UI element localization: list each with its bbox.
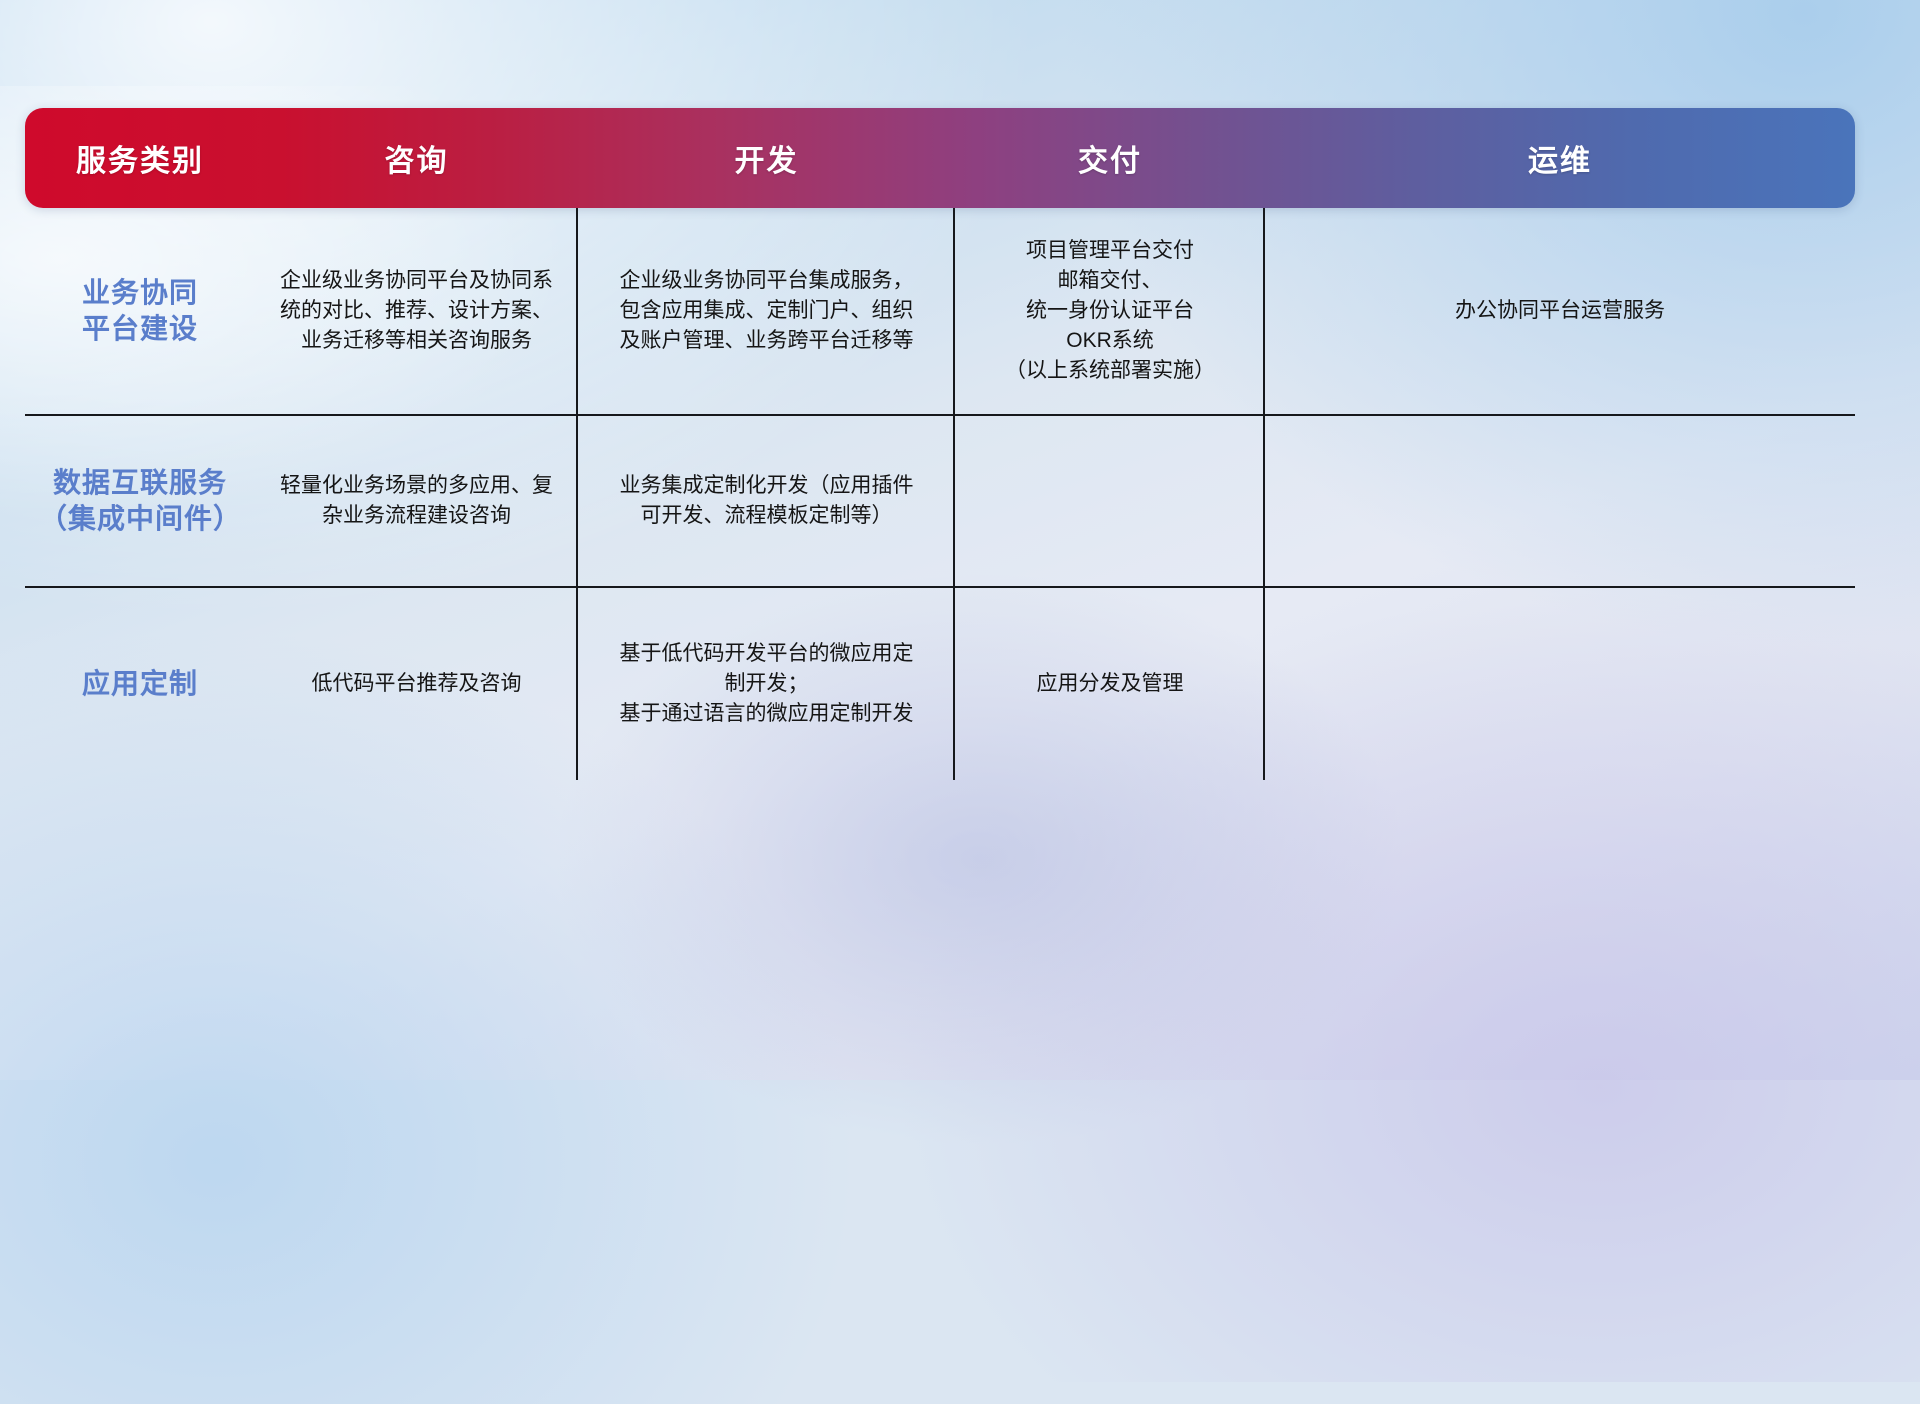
cell-row2-consulting: 轻量化业务场景的多应用、复 杂业务流程建设咨询 xyxy=(255,416,578,588)
table-row: 应用定制 低代码平台推荐及咨询 基于低代码开发平台的微应用定 制开发； 基于通过… xyxy=(25,588,1855,780)
table-header-row: 服务类别 咨询 开发 交付 运维 xyxy=(25,108,1855,208)
cell-row3-consulting: 低代码平台推荐及咨询 xyxy=(255,588,578,780)
service-matrix-table: 服务类别 咨询 开发 交付 运维 业务协同 平台建设 企业级业务协同平台及协同系… xyxy=(25,108,1855,780)
table-body: 业务协同 平台建设 企业级业务协同平台及协同系 统的对比、推荐、设计方案、 业务… xyxy=(25,208,1855,780)
cell-row1-operations: 办公协同平台运营服务 xyxy=(1265,208,1855,416)
column-header-consulting: 咨询 xyxy=(255,108,578,208)
cell-row1-development: 企业级业务协同平台集成服务， 包含应用集成、定制门户、组织 及账户管理、业务跨平… xyxy=(578,208,955,416)
cell-row3-development: 基于低代码开发平台的微应用定 制开发； 基于通过语言的微应用定制开发 xyxy=(578,588,955,780)
row-label-data-interconnect-service: 数据互联服务 （集成中间件） xyxy=(25,416,255,588)
row-label-application-customization: 应用定制 xyxy=(25,588,255,780)
cell-row1-delivery: 项目管理平台交付 邮箱交付、 统一身份认证平台 OKR系统 （以上系统部署实施） xyxy=(955,208,1265,416)
column-header-delivery: 交付 xyxy=(955,108,1265,208)
row-label-business-collaboration-platform: 业务协同 平台建设 xyxy=(25,208,255,416)
column-header-operations: 运维 xyxy=(1265,108,1855,208)
cell-row3-operations xyxy=(1265,588,1855,780)
cell-row1-consulting: 企业级业务协同平台及协同系 统的对比、推荐、设计方案、 业务迁移等相关咨询服务 xyxy=(255,208,578,416)
column-header-development: 开发 xyxy=(578,108,955,208)
column-header-service-category: 服务类别 xyxy=(25,108,255,208)
cell-row2-development: 业务集成定制化开发（应用插件 可开发、流程模板定制等） xyxy=(578,416,955,588)
cell-row2-delivery xyxy=(955,416,1265,588)
cell-row3-delivery: 应用分发及管理 xyxy=(955,588,1265,780)
cell-row2-operations xyxy=(1265,416,1855,588)
table-row: 业务协同 平台建设 企业级业务协同平台及协同系 统的对比、推荐、设计方案、 业务… xyxy=(25,208,1855,416)
table-row: 数据互联服务 （集成中间件） 轻量化业务场景的多应用、复 杂业务流程建设咨询 业… xyxy=(25,416,1855,588)
